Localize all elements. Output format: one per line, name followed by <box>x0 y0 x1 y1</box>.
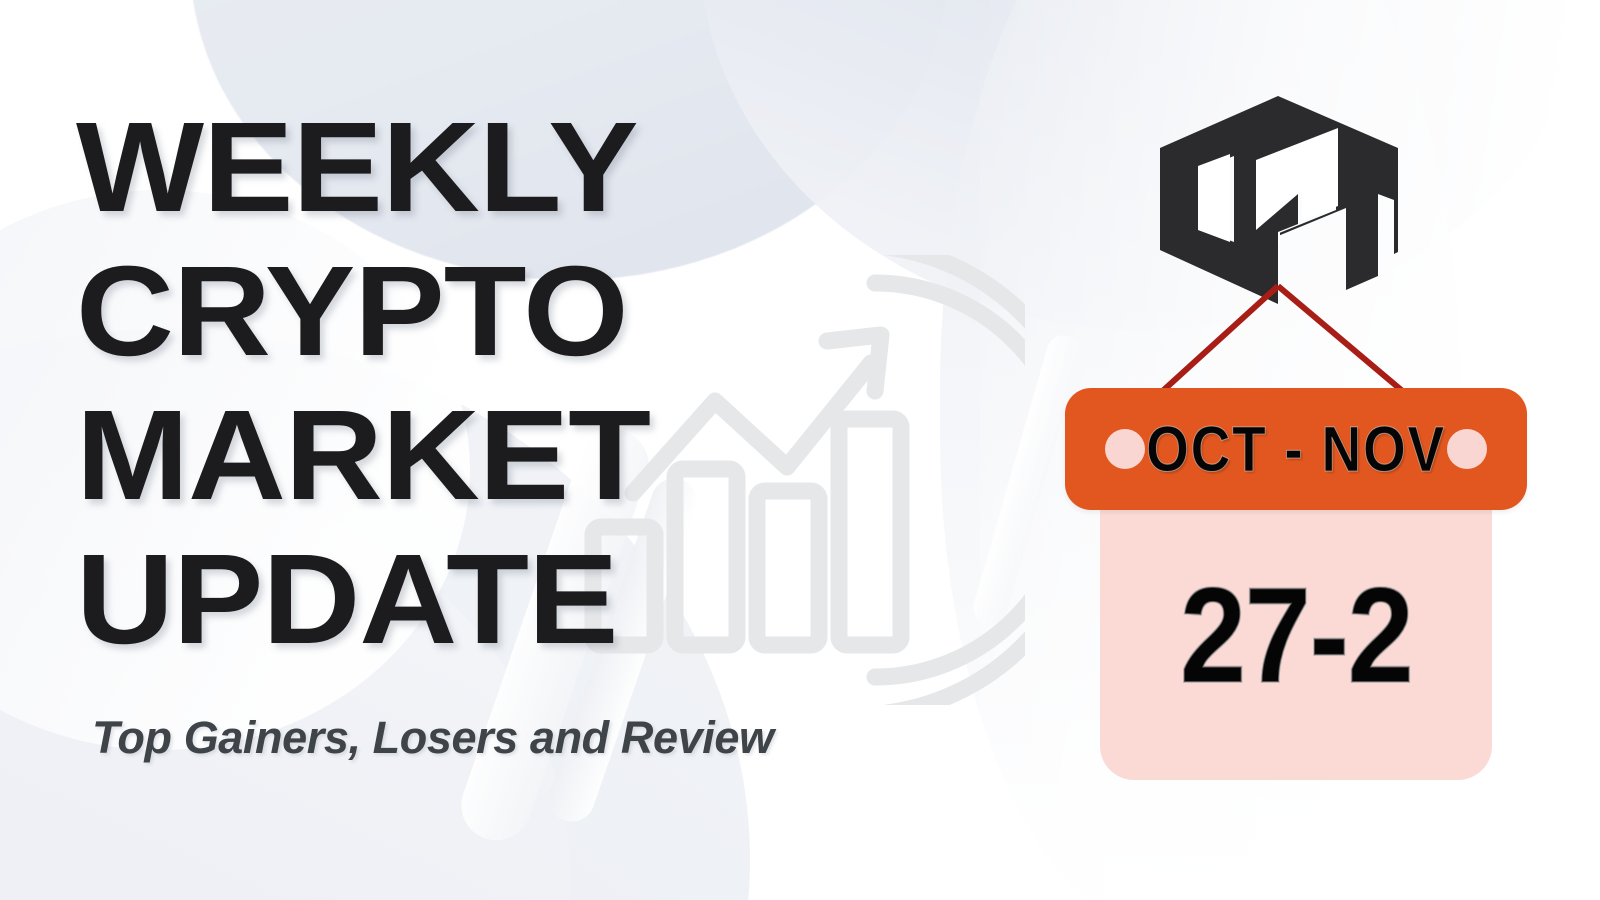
calendar-graphic: 27-2 OCT - NOV <box>1040 90 1560 810</box>
calendar-header-bar: OCT - NOV <box>1065 388 1527 510</box>
calendar-date-range: 27-2 <box>1124 567 1469 703</box>
calendar-body: 27-2 <box>1100 490 1492 780</box>
calendar-month-label: OCT - NOV <box>1097 417 1494 481</box>
